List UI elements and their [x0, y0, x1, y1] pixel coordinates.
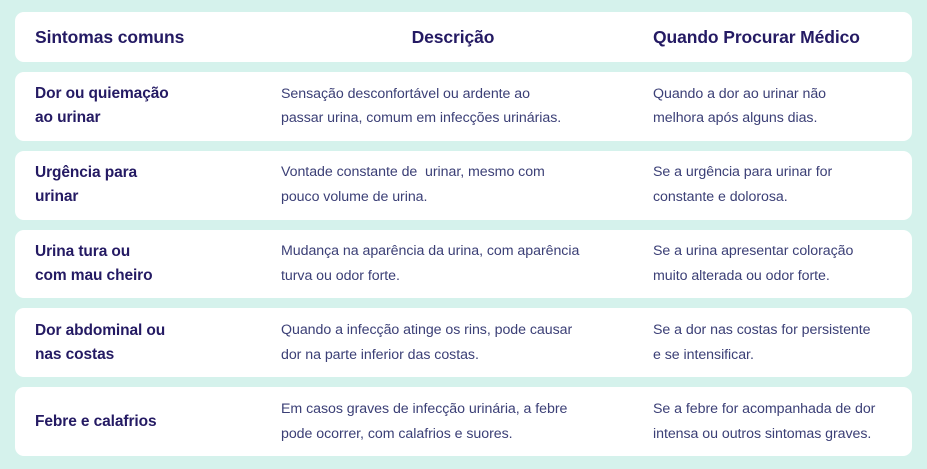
symptom-line: com mau cheiro [35, 264, 257, 288]
cell-description: Vontade constante de urinar, mesmo compo… [265, 160, 635, 210]
description-line: dor na parte inferior das costas. [281, 343, 625, 368]
cell-symptom: Dor abdominal ounas costas [15, 319, 265, 367]
cell-when: Quando a dor ao urinar nãomelhora após a… [635, 82, 912, 132]
when-line: melhora após alguns dias. [653, 106, 900, 131]
cell-description: Mudança na aparência da urina, com aparê… [265, 239, 635, 289]
column-header-description: Descrição [265, 27, 635, 48]
symptom-line: urinar [35, 185, 257, 209]
table-header-row: Sintomas comuns Descrição Quando Procura… [15, 12, 912, 62]
table-row: Dor ou quiemaçãoao urinar Sensação desco… [15, 72, 912, 141]
table-row: Urina tura oucom mau cheiro Mudança na a… [15, 230, 912, 299]
table-row: Dor abdominal ounas costas Quando a infe… [15, 308, 912, 377]
cell-symptom: Dor ou quiemaçãoao urinar [15, 82, 265, 130]
description-line: passar urina, comum em infecções urinári… [281, 106, 625, 131]
description-line: Em casos graves de infecção urinária, a … [281, 397, 625, 422]
cell-when: Se a urgência para urinar forconstante e… [635, 160, 912, 210]
cell-description: Em casos graves de infecção urinária, a … [265, 397, 635, 447]
cell-description: Quando a infecção atinge os rins, pode c… [265, 318, 635, 368]
symptoms-table: Sintomas comuns Descrição Quando Procura… [0, 0, 927, 469]
description-line: Sensação desconfortável ou ardente ao [281, 82, 625, 107]
description-line: Mudança na aparência da urina, com aparê… [281, 239, 625, 264]
cell-symptom: Urgência paraurinar [15, 161, 265, 209]
symptom-line: Dor abdominal ou [35, 319, 257, 343]
description-line: pouco volume de urina. [281, 185, 625, 210]
description-line: Vontade constante de urinar, mesmo com [281, 160, 625, 185]
symptom-line: Urgência para [35, 161, 257, 185]
cell-symptom: Urina tura oucom mau cheiro [15, 240, 265, 288]
when-line: Se a febre for acompanhada de dor [653, 397, 900, 422]
cell-when: Se a urina apresentar coloraçãomuito alt… [635, 239, 912, 289]
table-row: Urgência paraurinar Vontade constante de… [15, 151, 912, 220]
cell-when: Se a dor nas costas for persistentee se … [635, 318, 912, 368]
column-header-symptom: Sintomas comuns [15, 27, 265, 48]
when-line: e se intensificar. [653, 343, 900, 368]
symptom-line: ao urinar [35, 106, 257, 130]
symptom-line: nas costas [35, 343, 257, 367]
cell-symptom: Febre e calafrios [15, 410, 265, 434]
column-header-when: Quando Procurar Médico [635, 27, 912, 48]
table-row: Febre e calafrios Em casos graves de inf… [15, 387, 912, 456]
when-line: Se a dor nas costas for persistente [653, 318, 900, 343]
when-line: constante e dolorosa. [653, 185, 900, 210]
when-line: intensa ou outros sintomas graves. [653, 422, 900, 447]
when-line: muito alterada ou odor forte. [653, 264, 900, 289]
description-line: Quando a infecção atinge os rins, pode c… [281, 318, 625, 343]
description-line: turva ou odor forte. [281, 264, 625, 289]
cell-when: Se a febre for acompanhada de dorintensa… [635, 397, 912, 447]
cell-description: Sensação desconfortável ou ardente aopas… [265, 82, 635, 132]
when-line: Quando a dor ao urinar não [653, 82, 900, 107]
when-line: Se a urgência para urinar for [653, 160, 900, 185]
description-line: pode ocorrer, com calafrios e suores. [281, 422, 625, 447]
when-line: Se a urina apresentar coloração [653, 239, 900, 264]
symptom-line: Urina tura ou [35, 240, 257, 264]
symptom-line: Febre e calafrios [35, 410, 257, 434]
symptom-line: Dor ou quiemação [35, 82, 257, 106]
